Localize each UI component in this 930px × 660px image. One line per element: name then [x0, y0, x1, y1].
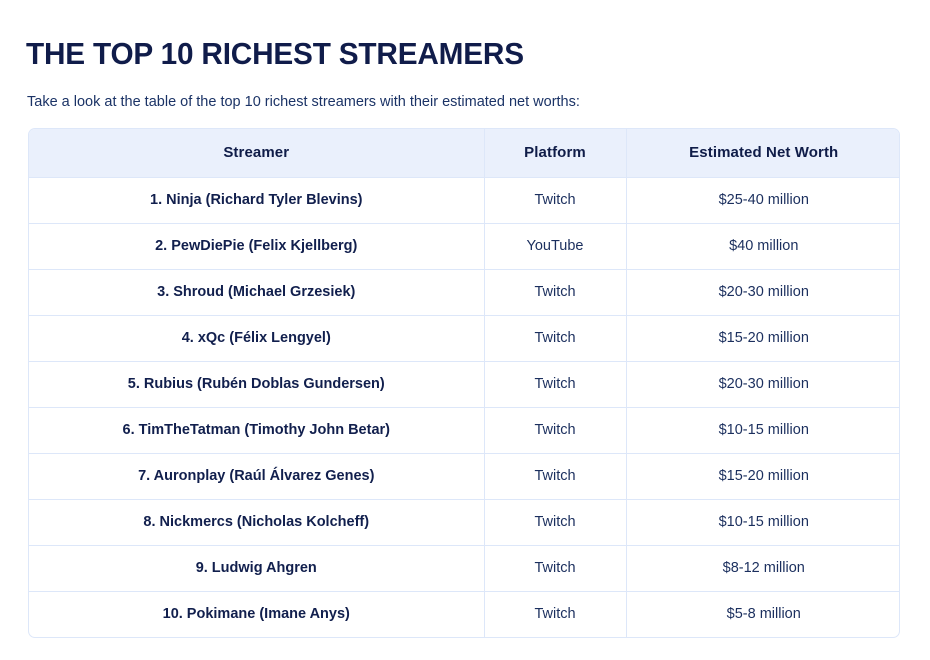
- cell-net-worth: $20-30 million: [626, 269, 900, 315]
- cell-streamer: 3. Shroud (Michael Grzesiek): [29, 269, 484, 315]
- cell-net-worth: $40 million: [626, 223, 900, 269]
- table-row: 6. TimTheTatman (Timothy John Betar) Twi…: [29, 407, 900, 453]
- column-header-net-worth: Estimated Net Worth: [626, 129, 900, 177]
- cell-platform: Twitch: [484, 177, 626, 223]
- table-header: Streamer Platform Estimated Net Worth: [29, 129, 900, 177]
- cell-net-worth: $5-8 million: [626, 591, 900, 637]
- cell-net-worth: $8-12 million: [626, 545, 900, 591]
- page-title: THE TOP 10 RICHEST STREAMERS: [26, 35, 524, 73]
- cell-net-worth: $15-20 million: [626, 453, 900, 499]
- cell-streamer: 7. Auronplay (Raúl Álvarez Genes): [29, 453, 484, 499]
- cell-net-worth: $10-15 million: [626, 407, 900, 453]
- cell-platform: Twitch: [484, 315, 626, 361]
- cell-streamer: 4. xQc (Félix Lengyel): [29, 315, 484, 361]
- table-header-row: Streamer Platform Estimated Net Worth: [29, 129, 900, 177]
- cell-streamer: 1. Ninja (Richard Tyler Blevins): [29, 177, 484, 223]
- cell-net-worth: $20-30 million: [626, 361, 900, 407]
- table-row: 2. PewDiePie (Felix Kjellberg) YouTube $…: [29, 223, 900, 269]
- cell-streamer: 8. Nickmercs (Nicholas Kolcheff): [29, 499, 484, 545]
- cell-streamer: 9. Ludwig Ahgren: [29, 545, 484, 591]
- cell-net-worth: $15-20 million: [626, 315, 900, 361]
- cell-streamer: 6. TimTheTatman (Timothy John Betar): [29, 407, 484, 453]
- column-header-platform: Platform: [484, 129, 626, 177]
- table-body: 1. Ninja (Richard Tyler Blevins) Twitch …: [29, 177, 900, 637]
- table-row: 9. Ludwig Ahgren Twitch $8-12 million: [29, 545, 900, 591]
- cell-net-worth: $10-15 million: [626, 499, 900, 545]
- page-root: THE TOP 10 RICHEST STREAMERS Take a look…: [0, 0, 930, 660]
- streamers-table: Streamer Platform Estimated Net Worth 1.…: [29, 129, 900, 637]
- table-row: 7. Auronplay (Raúl Álvarez Genes) Twitch…: [29, 453, 900, 499]
- cell-streamer: 5. Rubius (Rubén Doblas Gundersen): [29, 361, 484, 407]
- cell-platform: Twitch: [484, 407, 626, 453]
- column-header-streamer: Streamer: [29, 129, 484, 177]
- table-row: 8. Nickmercs (Nicholas Kolcheff) Twitch …: [29, 499, 900, 545]
- table-row: 5. Rubius (Rubén Doblas Gundersen) Twitc…: [29, 361, 900, 407]
- table-row: 3. Shroud (Michael Grzesiek) Twitch $20-…: [29, 269, 900, 315]
- cell-platform: YouTube: [484, 223, 626, 269]
- table-row: 4. xQc (Félix Lengyel) Twitch $15-20 mil…: [29, 315, 900, 361]
- cell-streamer: 10. Pokimane (Imane Anys): [29, 591, 484, 637]
- cell-platform: Twitch: [484, 361, 626, 407]
- cell-net-worth: $25-40 million: [626, 177, 900, 223]
- streamers-table-container: Streamer Platform Estimated Net Worth 1.…: [28, 128, 900, 638]
- cell-platform: Twitch: [484, 269, 626, 315]
- cell-platform: Twitch: [484, 453, 626, 499]
- table-row: 10. Pokimane (Imane Anys) Twitch $5-8 mi…: [29, 591, 900, 637]
- page-subtitle: Take a look at the table of the top 10 r…: [27, 91, 580, 113]
- cell-platform: Twitch: [484, 591, 626, 637]
- cell-platform: Twitch: [484, 499, 626, 545]
- cell-platform: Twitch: [484, 545, 626, 591]
- cell-streamer: 2. PewDiePie (Felix Kjellberg): [29, 223, 484, 269]
- table-row: 1. Ninja (Richard Tyler Blevins) Twitch …: [29, 177, 900, 223]
